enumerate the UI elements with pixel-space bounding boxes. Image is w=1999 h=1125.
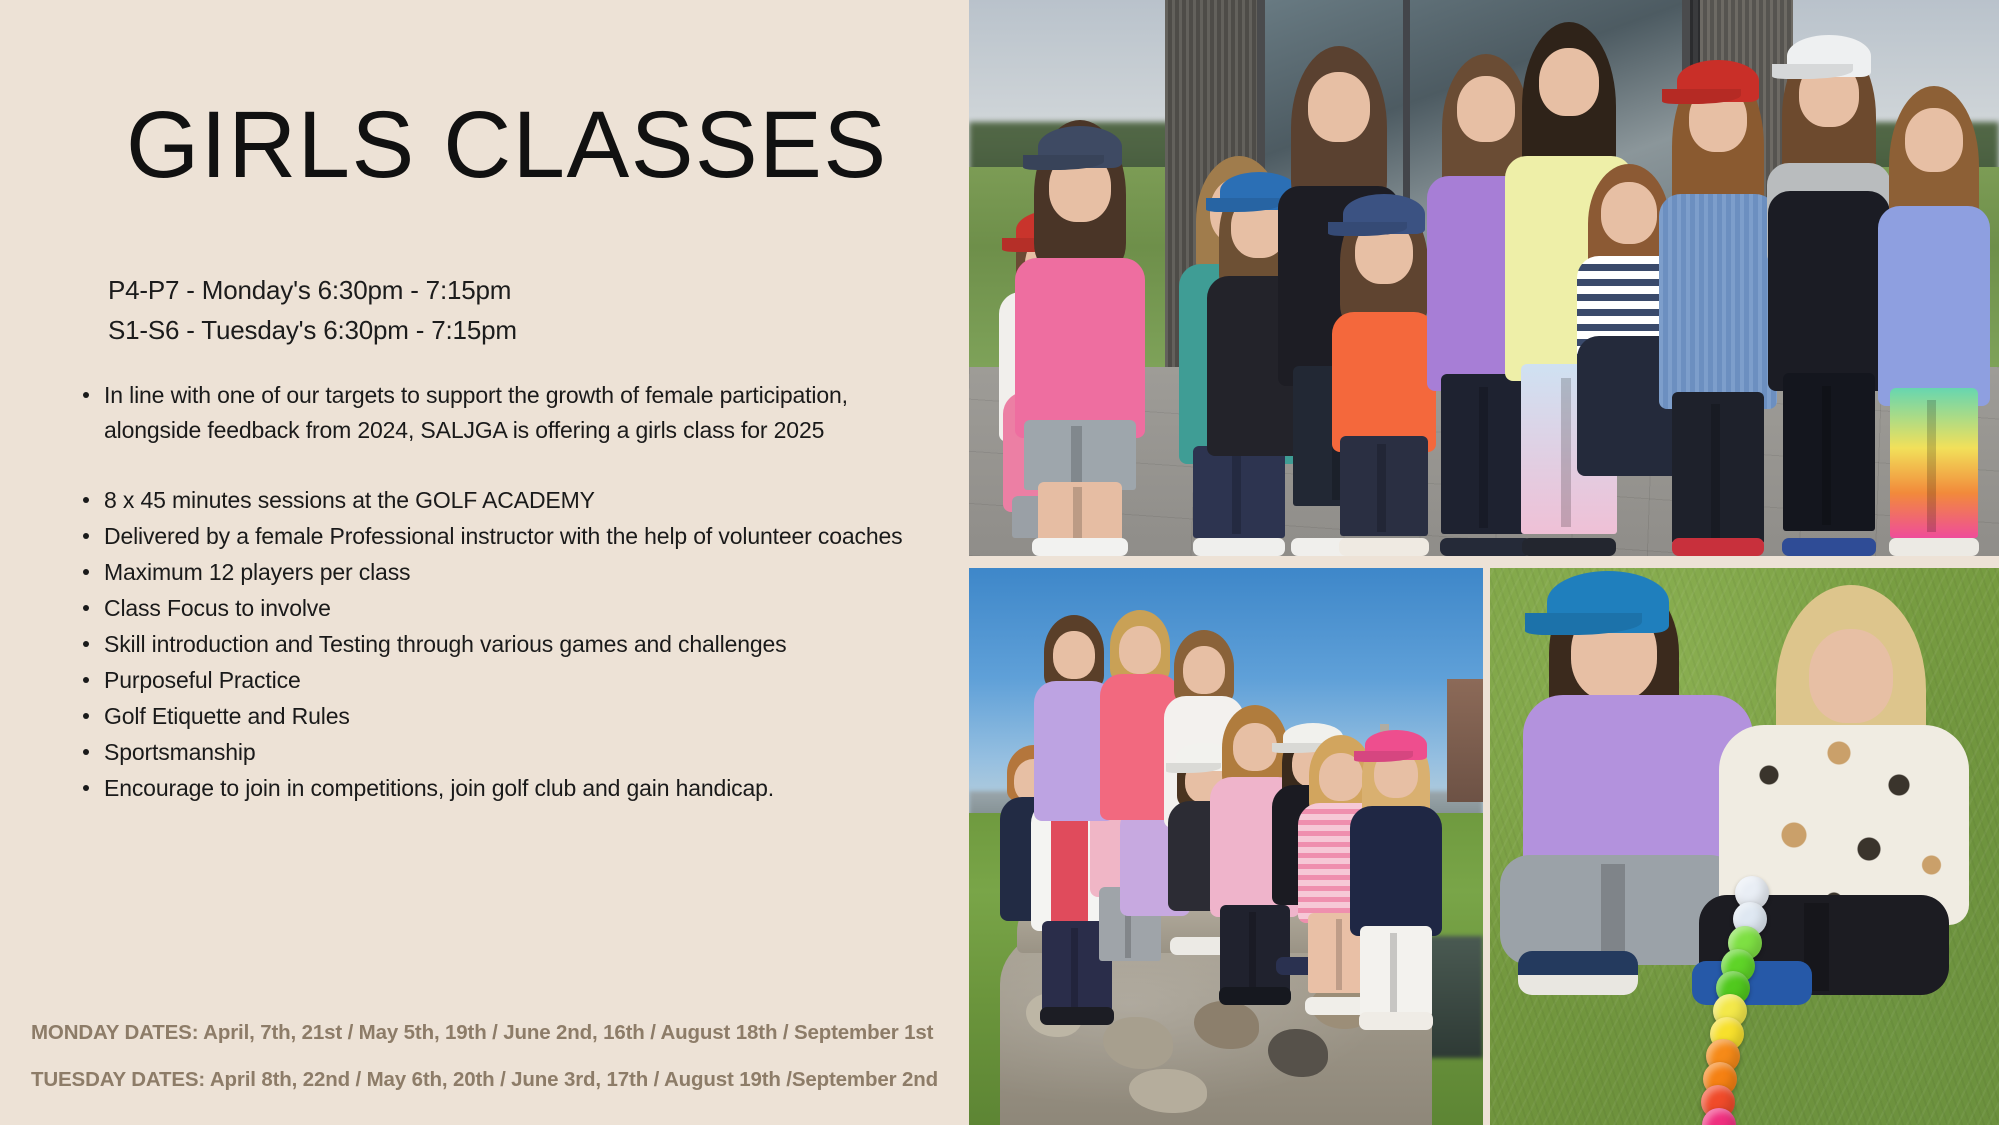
intro-list: In line with one of our targets to suppo… xyxy=(78,378,888,448)
bullet-dot-icon xyxy=(83,785,89,791)
monday-dates-line: MONDAY DATES: April, 7th, 21st / May 5th… xyxy=(31,1009,951,1056)
person-figure xyxy=(1874,46,1994,556)
list-item: 8 x 45 minutes sessions at the GOLF ACAD… xyxy=(78,482,908,518)
shoes xyxy=(1040,1007,1114,1025)
navy-shoes xyxy=(1518,951,1638,995)
head xyxy=(1053,631,1095,679)
schedule-line-monday: P4-P7 - Monday's 6:30pm - 7:15pm xyxy=(108,270,728,310)
shoes xyxy=(1339,538,1429,556)
detail-text: Sportsmanship xyxy=(104,739,255,765)
stone xyxy=(1194,1001,1259,1049)
navy-cap-icon xyxy=(1038,126,1122,168)
white-trousers xyxy=(1360,926,1432,1016)
navy-polo xyxy=(1350,806,1442,936)
rainbow-leggings xyxy=(1890,388,1978,538)
pink-cap-icon xyxy=(1365,730,1427,760)
bullet-dot-icon xyxy=(83,713,89,719)
details-block: 8 x 45 minutes sessions at the GOLF ACAD… xyxy=(78,482,908,806)
legs xyxy=(1672,392,1764,544)
list-item: Sportsmanship xyxy=(78,734,908,770)
detail-text: Golf Etiquette and Rules xyxy=(104,703,350,729)
red-cap-icon xyxy=(1677,60,1759,102)
list-item: Purposeful Practice xyxy=(78,662,908,698)
person-figure xyxy=(1347,730,1445,1030)
blue-callaway-cap-icon xyxy=(1547,571,1669,633)
footer-dates-block: MONDAY DATES: April, 7th, 21st / May 5th… xyxy=(31,1009,951,1103)
stone xyxy=(1268,1029,1328,1077)
photo-girls-on-swilcan-bridge xyxy=(969,568,1483,1125)
bullet-dot-icon xyxy=(83,497,89,503)
shoes xyxy=(1219,987,1291,1005)
list-item: Skill introduction and Testing through v… xyxy=(78,626,908,662)
detail-text: 8 x 45 minutes sessions at the GOLF ACAD… xyxy=(104,487,595,513)
photo-group-outside-clubhouse xyxy=(969,0,1999,556)
photo-collage xyxy=(969,0,1999,1125)
blue-jacket xyxy=(1878,206,1990,406)
bullet-dot-icon xyxy=(83,677,89,683)
detail-text: Maximum 12 players per class xyxy=(104,559,410,585)
photo-two-girls-rainbow-golf-balls xyxy=(1490,568,1999,1125)
head xyxy=(1308,72,1370,142)
head xyxy=(1539,48,1599,116)
person-figure-right xyxy=(1679,585,1999,1005)
bullet-dot-icon xyxy=(83,641,89,647)
list-item: Encourage to join in competitions, join … xyxy=(78,770,908,806)
navy-cap-icon xyxy=(1343,194,1425,234)
text-column: GIRLS CLASSES P4-P7 - Monday's 6:30pm - … xyxy=(0,0,969,1125)
poster-root: GIRLS CLASSES P4-P7 - Monday's 6:30pm - … xyxy=(0,0,1999,1125)
head xyxy=(1119,626,1161,674)
shoes xyxy=(1032,538,1128,556)
detail-text: Encourage to join in competitions, join … xyxy=(104,775,774,801)
white-cap-icon xyxy=(1787,35,1871,77)
detail-text: Delivered by a female Professional instr… xyxy=(104,523,903,549)
shoes xyxy=(1782,538,1876,556)
detail-text: Purposeful Practice xyxy=(104,667,301,693)
head xyxy=(1905,108,1963,172)
tuesday-dates-line: TUESDAY DATES: April 8th, 22nd / May 6th… xyxy=(31,1056,951,1103)
stone xyxy=(1129,1069,1207,1113)
person-figure xyxy=(1005,68,1155,556)
page-title: GIRLS CLASSES xyxy=(126,98,888,193)
list-item: Golf Etiquette and Rules xyxy=(78,698,908,734)
bullet-dot-icon xyxy=(83,533,89,539)
legs xyxy=(1783,373,1875,531)
bullet-dot-icon xyxy=(83,605,89,611)
schedule-block: P4-P7 - Monday's 6:30pm - 7:15pm S1-S6 -… xyxy=(108,270,728,350)
detail-text: Class Focus to involve xyxy=(104,595,331,621)
bullet-dot-icon xyxy=(83,749,89,755)
grey-shorts xyxy=(1024,420,1136,490)
bullet-dot-icon xyxy=(83,392,89,398)
list-item: Class Focus to involve xyxy=(78,590,908,626)
bullet-dot-icon xyxy=(83,569,89,575)
legs xyxy=(1340,436,1428,536)
intro-text: In line with one of our targets to suppo… xyxy=(104,382,848,443)
intro-block: In line with one of our targets to suppo… xyxy=(78,378,888,448)
list-item: Maximum 12 players per class xyxy=(78,554,908,590)
black-gilet xyxy=(1768,191,1890,391)
details-list: 8 x 45 minutes sessions at the GOLF ACAD… xyxy=(78,482,908,806)
shoes xyxy=(1359,1012,1433,1030)
schedule-line-tuesday: S1-S6 - Tuesday's 6:30pm - 7:15pm xyxy=(108,310,728,350)
head xyxy=(1809,629,1893,723)
shoes xyxy=(1672,538,1764,556)
detail-text: Skill introduction and Testing through v… xyxy=(104,631,787,657)
shoes xyxy=(1889,538,1979,556)
pink-tee xyxy=(1015,258,1145,438)
head xyxy=(1183,646,1225,694)
list-item: Delivered by a female Professional instr… xyxy=(78,518,908,554)
head xyxy=(1601,182,1657,244)
list-item: In line with one of our targets to suppo… xyxy=(78,378,888,448)
legs xyxy=(1038,482,1122,544)
distant-building xyxy=(1447,679,1483,802)
